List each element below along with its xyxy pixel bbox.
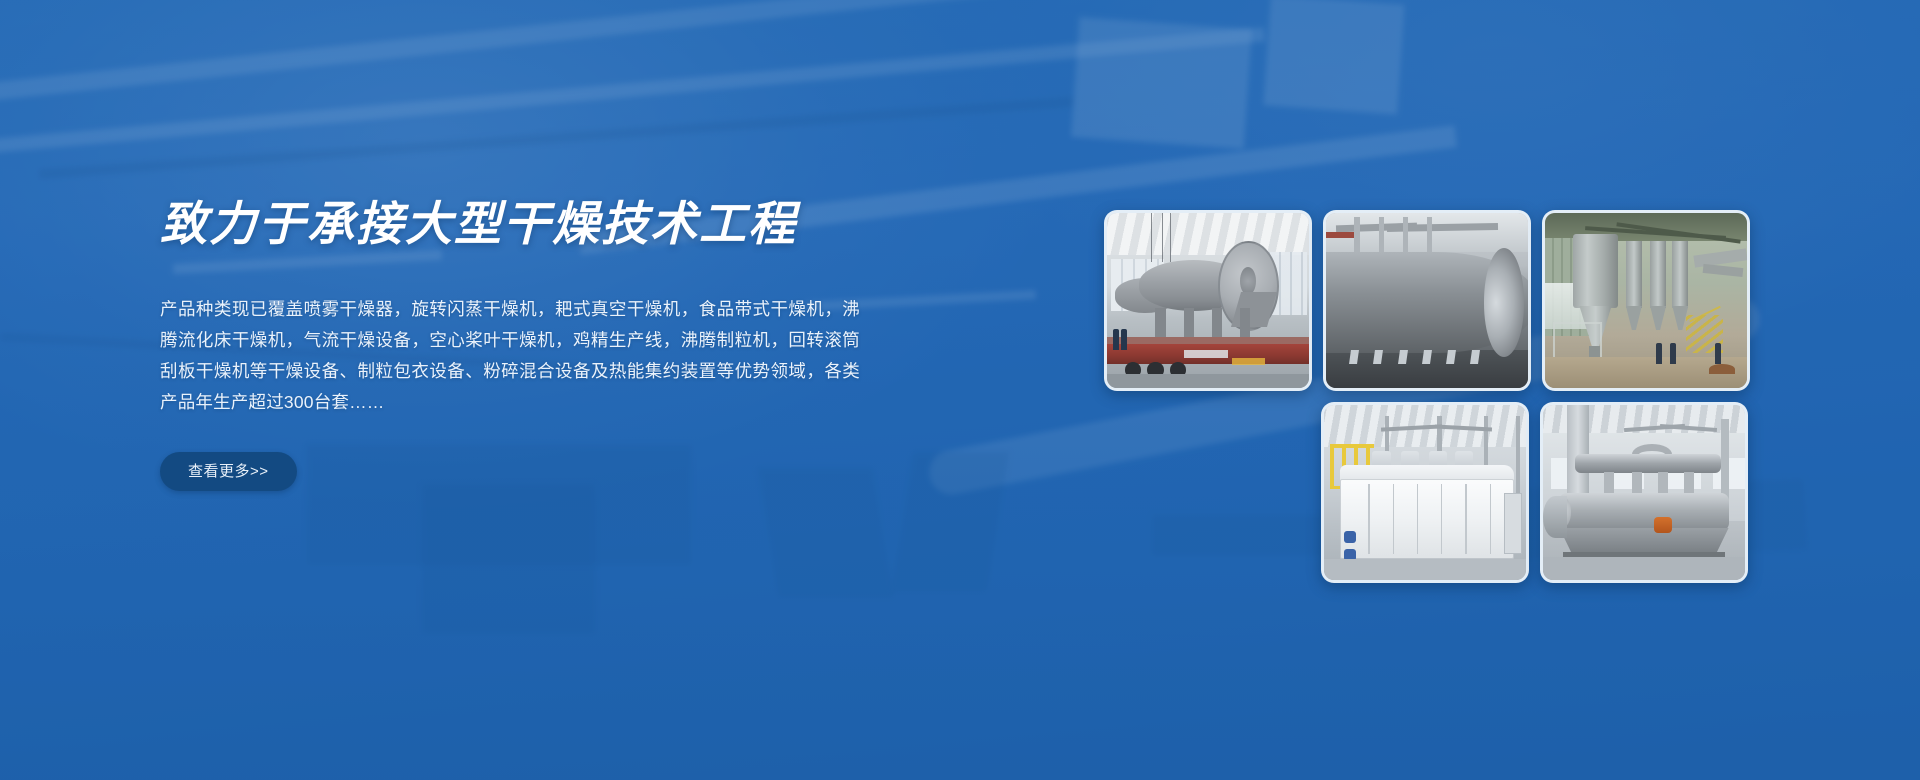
dryer-cabinet (1340, 479, 1514, 560)
fluid-bed-body (1559, 493, 1729, 532)
duct-riser (1684, 472, 1694, 493)
bed-lower-skirt (1559, 528, 1729, 553)
blower-motor (1344, 531, 1356, 543)
photo-scene (1324, 405, 1526, 580)
hero-text-column: 致力于承接大型干燥技术工程 产品种类现已覆盖喷雾干燥器，旋转闪蒸干燥机，耙式真空… (160, 196, 880, 491)
air-duct (1694, 248, 1747, 267)
support-leg (1212, 308, 1222, 341)
ceiling-post (1379, 217, 1384, 252)
photo-scene (1545, 213, 1747, 388)
ceiling-post (1403, 217, 1408, 252)
factory-floor (1543, 557, 1745, 580)
air-duct (1702, 263, 1743, 276)
hero-description: 产品种类现已覆盖喷雾干燥器，旋转闪蒸干燥机，耙式真空干燥机，食品带式干燥机，沸腾… (160, 294, 860, 418)
cyclone-cone (1650, 306, 1666, 331)
photo-scene (1107, 213, 1309, 388)
cabinet-door-seam (1393, 484, 1394, 554)
cabinet-door-seam (1465, 484, 1466, 554)
photo-scene (1543, 405, 1745, 580)
ceiling-post (1427, 217, 1432, 252)
bed-marking-yellow (1232, 358, 1264, 365)
support-leg (1155, 308, 1165, 341)
ceiling-post (1354, 217, 1359, 252)
cyclone-separator (1650, 241, 1666, 308)
photo-belt-dryer-cabinet[interactable] (1321, 402, 1529, 583)
worker-figure (1121, 329, 1127, 350)
duct-riser (1632, 472, 1642, 493)
red-beam (1326, 232, 1354, 237)
worker-figure (1670, 343, 1676, 364)
photo-rotary-drum-dryer-on-truck[interactable] (1104, 210, 1312, 391)
worker-figure (1715, 343, 1721, 364)
cyclone-cone (1626, 306, 1642, 331)
photo-vibrating-fluid-bed-dryer[interactable] (1540, 402, 1748, 583)
photo-helical-rake-flights[interactable] (1323, 210, 1531, 391)
dryer-top-shell (1340, 465, 1514, 481)
worker-figure (1656, 343, 1662, 364)
photo-row-top (1104, 210, 1748, 391)
view-more-button[interactable]: 查看更多>> (160, 452, 297, 491)
cabinet-door-seam (1441, 484, 1442, 554)
duct-riser (1658, 472, 1668, 493)
cabinet-door-seam (1490, 484, 1491, 554)
crane-cable (1151, 213, 1152, 262)
drying-tower (1573, 234, 1617, 308)
vibration-motor (1654, 517, 1672, 533)
crane-cable (1170, 213, 1171, 262)
material-pile (1709, 364, 1735, 375)
duct-riser (1604, 472, 1614, 493)
factory-floor (1107, 374, 1309, 388)
page-title: 致力于承接大型干燥技术工程 (160, 196, 880, 251)
truck-bed-top (1107, 337, 1309, 344)
factory-roof (1107, 213, 1309, 255)
cabinet-door-seam (1368, 484, 1369, 554)
cyclone-separator (1626, 241, 1642, 308)
cyclone-separator (1672, 241, 1688, 308)
factory-floor (1324, 559, 1526, 580)
worker-figure (1113, 329, 1119, 350)
photo-spray-drying-tower[interactable] (1542, 210, 1750, 391)
control-panel (1504, 493, 1522, 555)
support-leg (1240, 308, 1250, 341)
product-photo-grid (1104, 210, 1748, 583)
crane-cable (1162, 213, 1163, 262)
top-exhaust-duct (1575, 454, 1720, 473)
hero-banner: 致力于承接大型干燥技术工程 产品种类现已覆盖喷雾干燥器，旋转闪蒸干燥机，耙式真空… (0, 0, 1920, 780)
flight-highlight (1484, 248, 1524, 357)
inlet-duct (1543, 496, 1567, 538)
photo-scene (1326, 213, 1528, 388)
support-leg (1184, 308, 1194, 341)
bed-marking (1184, 350, 1228, 359)
cabinet-door-seam (1417, 484, 1418, 554)
support-foot (1398, 350, 1408, 364)
photo-row-bottom (1104, 402, 1748, 583)
